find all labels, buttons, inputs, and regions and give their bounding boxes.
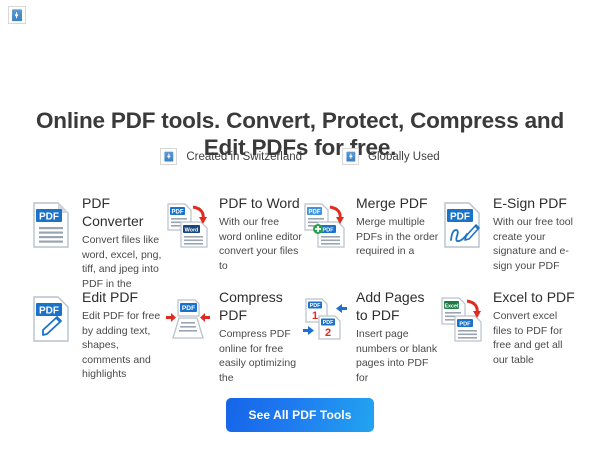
excel-to-pdf-icon: Excel PDF [439, 294, 485, 344]
tool-title: Edit PDF [82, 288, 165, 306]
tool-card-compress-pdf[interactable]: PDF Compress PDF Compress PDF online for… [165, 288, 302, 382]
svg-text:PDF: PDF [182, 305, 195, 312]
tool-description: With our free word online editor convert… [219, 215, 302, 273]
svg-text:2: 2 [325, 327, 331, 339]
tool-description: Convert excel files to PDF for free and … [493, 309, 576, 367]
tool-text: Merge PDF Merge multiple PDFs in the ord… [356, 194, 439, 288]
tool-title: Excel to PDF [493, 288, 576, 306]
tool-text: E-Sign PDF With our free tool create you… [493, 194, 576, 288]
esign-pdf-icon: PDF [439, 200, 485, 250]
tool-description: Insert page numbers or blank pages into … [356, 327, 439, 382]
tool-text: Add Pages to PDF Insert page numbers or … [356, 288, 439, 382]
tool-description: Merge multiple PDFs in the order require… [356, 215, 439, 259]
badge-created-in-switzerland: Created in Switzerland [160, 148, 302, 165]
tool-title: Merge PDF [356, 194, 439, 212]
tool-grid: PDF PDF Converter Convert files like wor… [28, 194, 576, 382]
see-all-pdf-tools-button[interactable]: See All PDF Tools [226, 398, 373, 432]
landing-page: Online PDF tools. Convert, Protect, Comp… [0, 0, 600, 450]
tool-card-pdf-to-word[interactable]: PDF Word [165, 194, 302, 288]
merge-pdf-icon: PDF PDF [302, 200, 348, 250]
cta-container: See All PDF Tools [0, 398, 600, 432]
svg-text:PDF: PDF [39, 306, 59, 317]
svg-text:1: 1 [312, 310, 318, 322]
compress-pdf-icon: PDF [165, 294, 211, 344]
tool-text: Excel to PDF Convert excel files to PDF … [493, 288, 576, 382]
add-pages-to-pdf-icon: PDF 1 PDF 2 [302, 294, 348, 344]
tool-text: Compress PDF Compress PDF online for fre… [219, 288, 302, 382]
tool-description: Convert files like word, excel, png, tif… [82, 233, 165, 288]
svg-text:PDF: PDF [459, 321, 471, 327]
badge-globally-used: Globally Used [342, 148, 440, 165]
broken-image-placeholder-icon [160, 148, 177, 165]
tool-text: PDF to Word With our free word online ed… [219, 194, 302, 288]
svg-text:PDF: PDF [39, 212, 59, 223]
tool-title: PDF Converter [82, 194, 165, 230]
broken-image-placeholder-icon [342, 148, 359, 165]
pdf-to-word-icon: PDF Word [165, 200, 211, 250]
tool-description: With our free tool create your signature… [493, 215, 576, 273]
tool-card-edit-pdf[interactable]: PDF Edit PDF Edit PDF for free by adding… [28, 288, 165, 382]
tool-card-excel-to-pdf[interactable]: Excel PDF [439, 288, 576, 382]
tool-card-esign-pdf[interactable]: PDF E-Sign PDF With our free tool create… [439, 194, 576, 288]
tool-title: PDF to Word [219, 194, 302, 212]
pdf-document-icon: PDF [28, 200, 74, 250]
svg-text:PDF: PDF [172, 210, 184, 216]
edit-pdf-icon: PDF [28, 294, 74, 344]
svg-text:Word: Word [185, 227, 199, 233]
badge-label: Created in Switzerland [186, 151, 302, 163]
trust-badges: Created in Switzerland Globally Used [0, 148, 600, 165]
svg-text:Excel: Excel [444, 303, 459, 309]
svg-text:PDF: PDF [323, 320, 334, 326]
badge-label: Globally Used [368, 151, 440, 163]
tool-title: E-Sign PDF [493, 194, 576, 212]
svg-text:PDF: PDF [450, 212, 470, 223]
svg-text:PDF: PDF [309, 210, 321, 216]
tool-card-pdf-converter[interactable]: PDF PDF Converter Convert files like wor… [28, 194, 165, 288]
tool-description: Compress PDF online for free easily opti… [219, 327, 302, 382]
svg-text:PDF: PDF [322, 227, 334, 233]
broken-image-placeholder-icon[interactable] [8, 6, 26, 24]
tool-text: PDF Converter Convert files like word, e… [82, 194, 165, 288]
tool-title: Compress PDF [219, 288, 302, 324]
tool-title: Add Pages to PDF [356, 288, 439, 324]
tool-card-merge-pdf[interactable]: PDF PDF [302, 194, 439, 288]
svg-text:PDF: PDF [310, 303, 321, 309]
tool-text: Edit PDF Edit PDF for free by adding tex… [82, 288, 165, 382]
tool-description: Edit PDF for free by adding text, shapes… [82, 309, 165, 382]
tool-card-add-pages-to-pdf[interactable]: PDF 1 PDF 2 Add Pages to PDF Insert page… [302, 288, 439, 382]
